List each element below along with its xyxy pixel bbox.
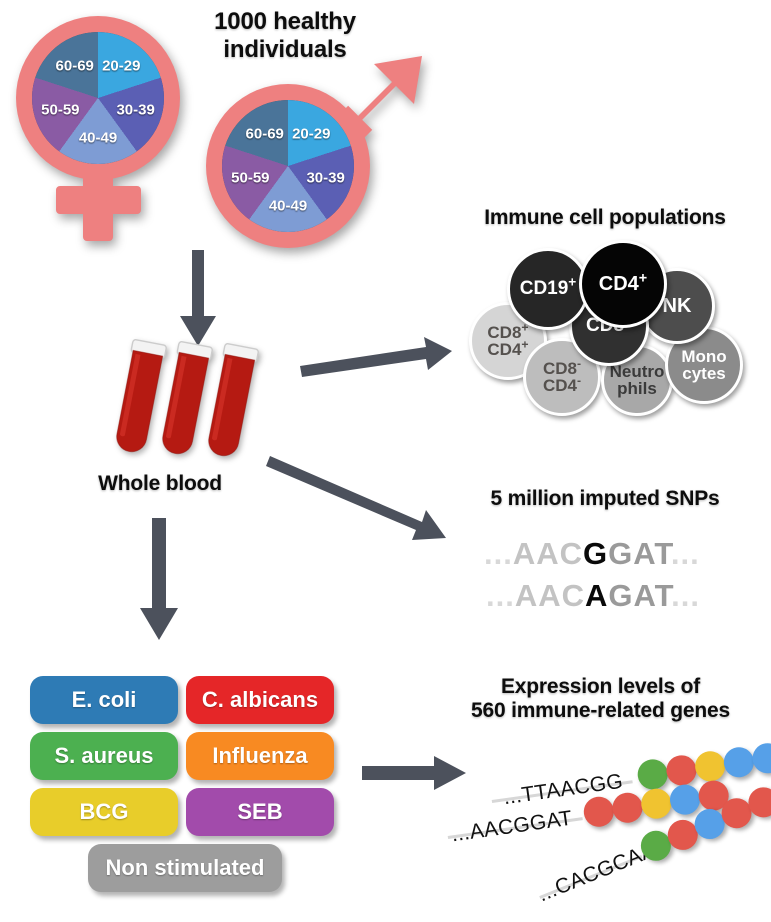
bubble-cd4pos: CD4+	[579, 240, 667, 328]
pie-male-label-20-29: 20-29	[292, 125, 330, 142]
pie-female-label-60-69: 60-69	[56, 57, 94, 74]
strand-sequence-2: ...AACGGAT	[450, 807, 574, 848]
strand-bead	[664, 753, 698, 787]
snp-sequence-row-1: ...AACGGAT...	[484, 536, 700, 572]
blood-tube-3	[192, 339, 266, 467]
snp-after-1: GAT	[608, 536, 671, 571]
pie-female-label-40-49: 40-49	[79, 129, 117, 146]
snp-after-2: GAT	[608, 578, 671, 613]
stimulation-label-seb: SEB	[237, 799, 282, 825]
age-distribution-pie-female: 20-2930-3940-4950-5960-69	[32, 32, 164, 164]
stimulation-pill-bcg[interactable]: BCG	[30, 788, 178, 836]
bubble-label-monocytes: Monocytes	[681, 348, 726, 383]
snp-prefix-2: ...	[486, 578, 515, 613]
stimulation-label-e-coli: E. coli	[72, 687, 137, 713]
bubble-label-cd19pos: CD19+	[520, 279, 577, 298]
stimulation-pill-e-coli[interactable]: E. coli	[30, 676, 178, 724]
snp-suffix-1: ...	[671, 536, 700, 571]
bubble-label-cd8pos-cd4pos: CD8+CD4+	[487, 324, 528, 359]
arrow-blood-to-stimulations	[138, 518, 180, 643]
pie-male-label-50-59: 50-59	[231, 170, 269, 187]
stimulation-panel: E. coli C. albicans S. aureus Influenza …	[30, 676, 340, 896]
stimulation-label-c-albicans: C. albicans	[202, 687, 318, 713]
female-symbol-stem-cross	[56, 186, 141, 214]
stimulation-pill-s-aureus[interactable]: S. aureus	[30, 732, 178, 780]
strand-bead	[668, 783, 702, 817]
stimulation-label-non-stimulated: Non stimulated	[106, 855, 265, 881]
arrow-blood-to-snps	[270, 450, 460, 550]
age-distribution-pie-male: 20-2930-3940-4950-5960-69	[222, 100, 354, 232]
expression-title-line-2: 560 immune-related genes	[430, 699, 771, 723]
strand-bead	[636, 757, 670, 791]
expression-strand-group: ...TTAACGG ...AACGGAT ...CACGCAA	[430, 730, 771, 915]
strand-bead	[582, 795, 616, 829]
page-title-line-1: 1000 healthy	[170, 8, 400, 36]
stimulation-pill-non-stimulated[interactable]: Non stimulated	[88, 844, 282, 892]
snp-suffix-2: ...	[671, 578, 700, 613]
strand-bead	[751, 741, 771, 775]
strand-bead	[639, 787, 673, 821]
snp-variant-1: G	[583, 536, 608, 571]
strand-bead	[722, 745, 756, 779]
strand-bead	[693, 749, 727, 783]
pie-female-label-30-39: 30-39	[116, 102, 154, 119]
pie-female-label-50-59: 50-59	[41, 102, 79, 119]
whole-blood-tubes	[100, 335, 280, 465]
whole-blood-label: Whole blood	[55, 472, 265, 496]
snp-section-title: 5 million imputed SNPs	[455, 487, 755, 511]
stimulation-label-s-aureus: S. aureus	[54, 743, 153, 769]
strand-bead	[611, 791, 645, 825]
snp-sequence-row-2: ...AACAGAT...	[486, 578, 700, 614]
pie-male-label-60-69: 60-69	[246, 125, 284, 142]
male-gender-symbol: 20-2930-3940-4950-5960-69	[200, 48, 430, 258]
stimulation-label-influenza: Influenza	[212, 743, 307, 769]
stimulation-label-bcg: BCG	[80, 799, 129, 825]
bubble-cd19pos: CD19+	[507, 248, 589, 330]
pie-male-label-30-39: 30-39	[306, 170, 344, 187]
pie-male-label-40-49: 40-49	[269, 197, 307, 214]
female-gender-symbol: 20-2930-3940-4950-5960-69	[8, 8, 198, 248]
arrow-blood-to-immune	[300, 330, 460, 380]
bubble-label-cd8neg-cd4neg: CD8-CD4-	[543, 360, 581, 395]
bubble-label-nk: NK	[663, 296, 692, 316]
stimulation-pill-influenza[interactable]: Influenza	[186, 732, 334, 780]
snp-prefix-1: ...	[484, 536, 513, 571]
bubble-label-neutrophils: Neutrophils	[610, 363, 665, 398]
pie-female-label-20-29: 20-29	[102, 57, 140, 74]
stimulation-pill-c-albicans[interactable]: C. albicans	[186, 676, 334, 724]
figure-canvas: 1000 healthy individuals 20-2930-3940-49…	[0, 0, 771, 922]
immune-cell-bubble-cluster: CD8+CD4+ CD8-CD4- Neutrophils Monocytes …	[455, 240, 771, 410]
snp-variant-2: A	[585, 578, 608, 613]
snp-before-2: AAC	[515, 578, 585, 613]
immune-section-title: Immune cell populations	[440, 206, 770, 230]
expression-title-line-1: Expression levels of	[430, 675, 771, 699]
stimulation-pill-seb[interactable]: SEB	[186, 788, 334, 836]
bubble-label-cd4pos: CD4+	[599, 274, 647, 294]
snp-before-1: AAC	[513, 536, 583, 571]
expression-section-title: Expression levels of 560 immune-related …	[430, 675, 771, 724]
